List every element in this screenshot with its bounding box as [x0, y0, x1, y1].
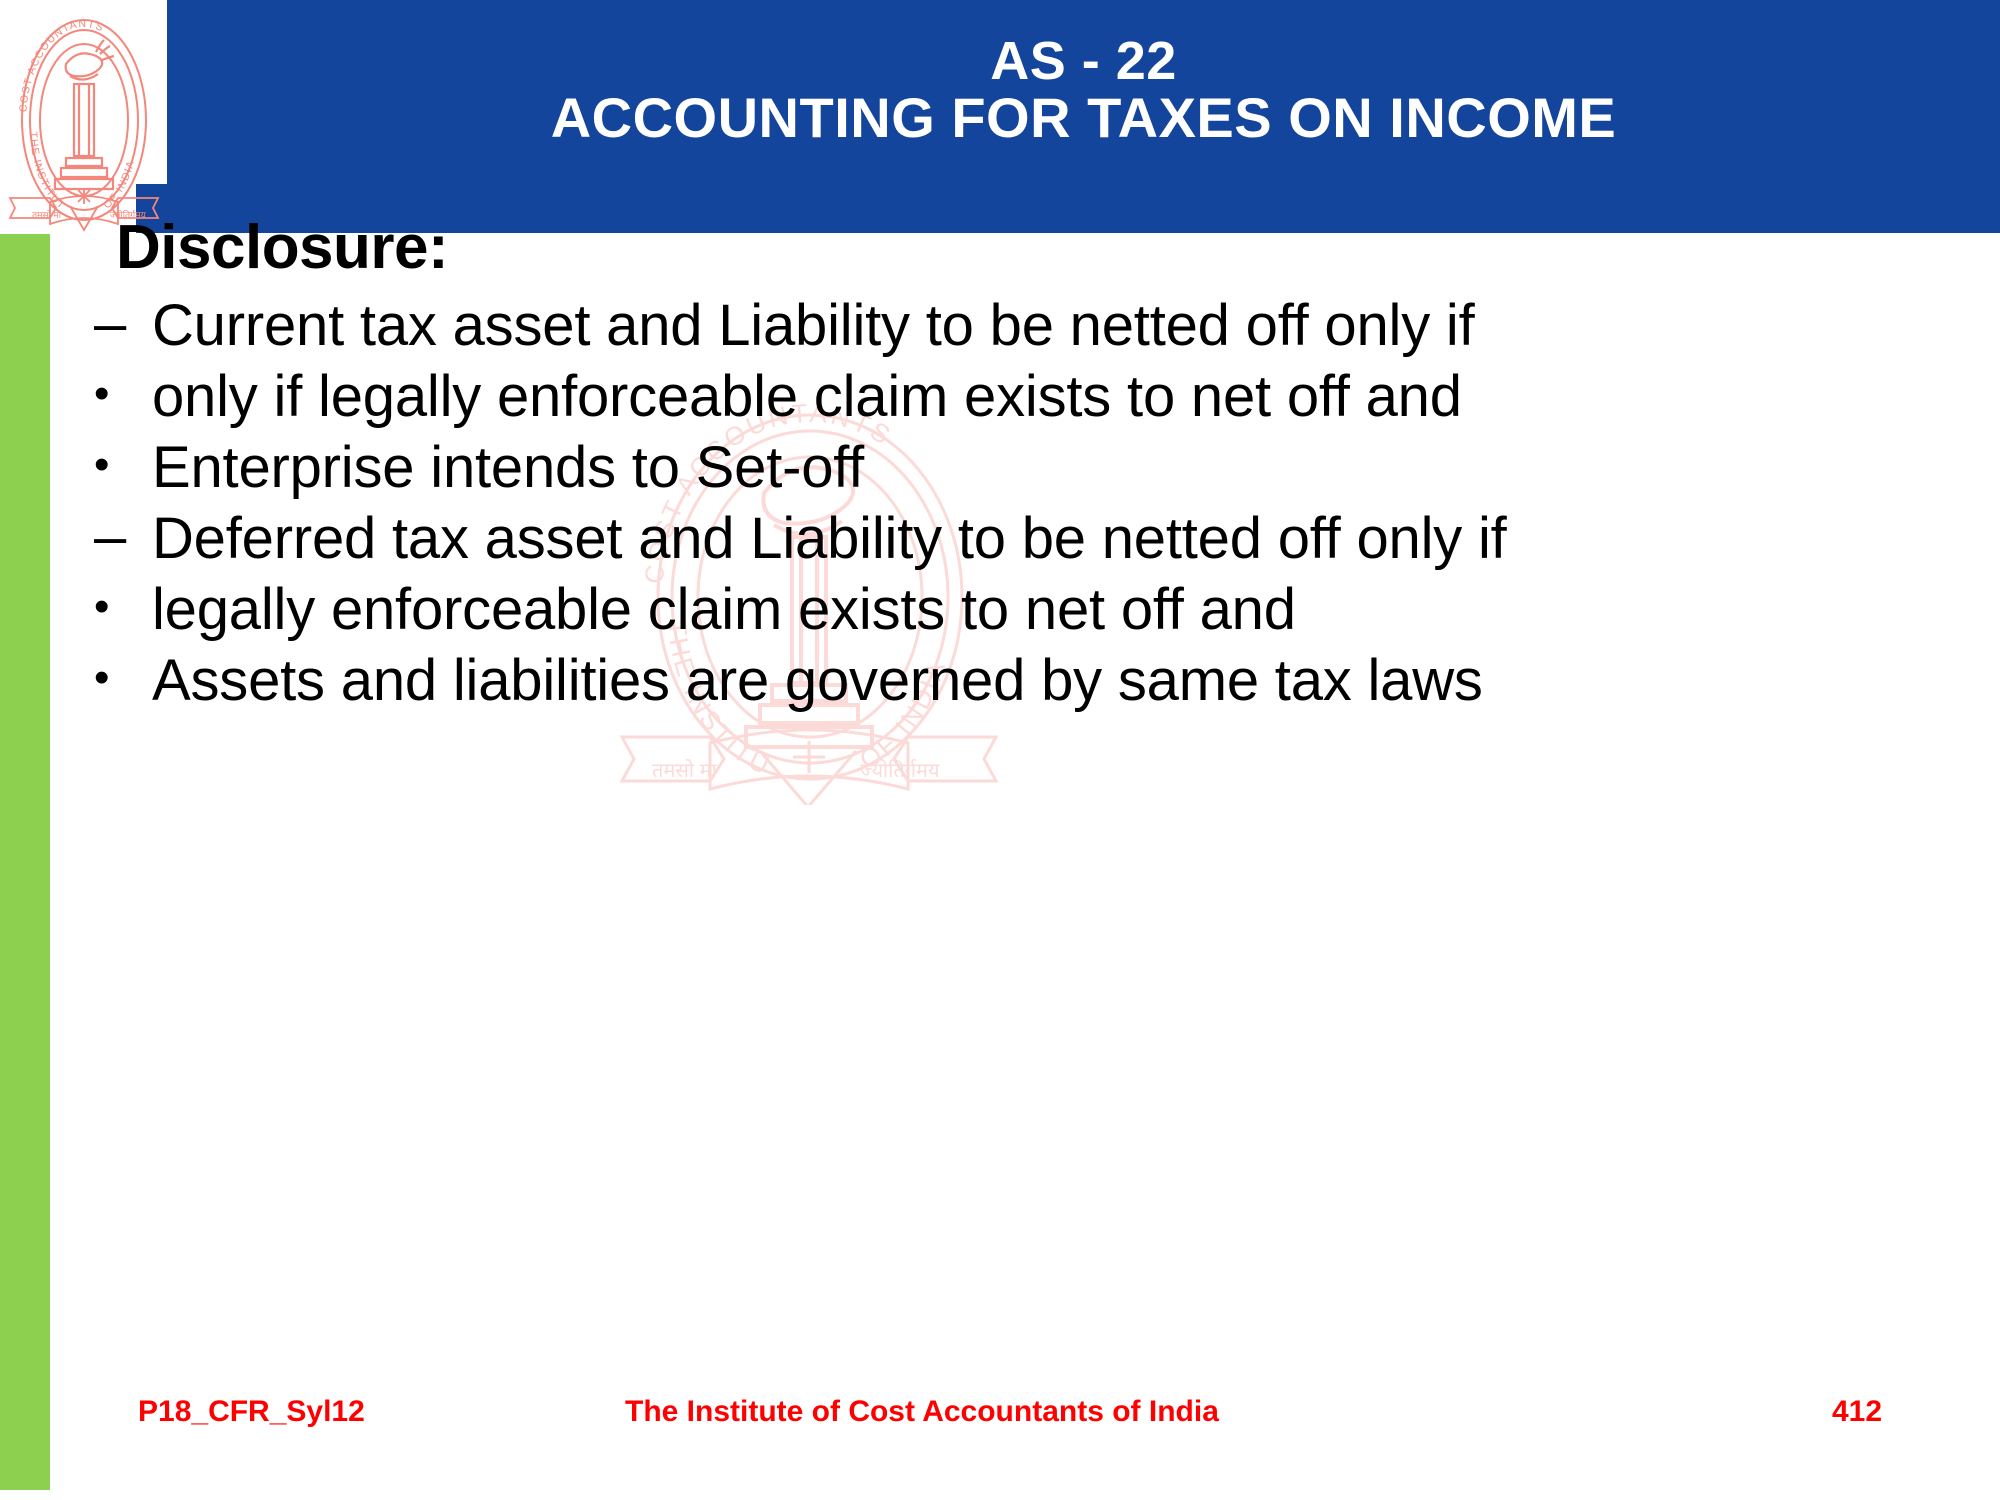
footer-institute-name: The Institute of Cost Accountants of Ind… — [625, 1395, 1219, 1429]
header-title-line2: ACCOUNTING FOR TAXES ON INCOME — [551, 89, 1617, 146]
header-title-line1: AS - 22 — [990, 34, 1177, 89]
dot-bullet-icon: • — [94, 440, 142, 489]
slide-canvas: AS - 22 ACCOUNTING FOR TAXES ON INCOME C… — [0, 0, 2000, 1500]
list-item-text: legally enforceable claim exists to net … — [152, 578, 1950, 643]
list-item: • Enterprise intends to Set-off — [90, 436, 1950, 501]
list-item-text: Assets and liabilities are governed by s… — [152, 649, 1950, 714]
list-item: – Current tax asset and Liability to be … — [90, 294, 1950, 359]
slide-footer: P18_CFR_Syl12 The Institute of Cost Acco… — [0, 1395, 2000, 1455]
list-item: – Deferred tax asset and Liability to be… — [90, 507, 1950, 572]
dash-bullet-icon: – — [94, 505, 142, 570]
dot-bullet-icon: • — [94, 582, 142, 631]
footer-subject-code: P18_CFR_Syl12 — [138, 1395, 365, 1429]
list-item-text: Deferred tax asset and Liability to be n… — [152, 507, 1950, 572]
header-band: AS - 22 ACCOUNTING FOR TAXES ON INCOME — [167, 0, 2000, 184]
list-item-text: only if legally enforceable claim exists… — [152, 365, 1950, 430]
institute-logo: COST ACCOUNTANTS THE INSTITUTE OF OF IND… — [4, 2, 164, 232]
dot-bullet-icon: • — [94, 653, 142, 702]
svg-text:ज्योतिर्गमय: ज्योतिर्गमय — [110, 209, 147, 220]
slide-body: Disclosure: – Current tax asset and Liab… — [0, 200, 2000, 1350]
bullet-list: – Current tax asset and Liability to be … — [90, 294, 1950, 720]
footer-page-number: 412 — [1832, 1395, 1882, 1429]
svg-text:तमसो मा: तमसो मा — [32, 209, 62, 220]
list-item: • only if legally enforceable claim exis… — [90, 365, 1950, 430]
list-item-text: Current tax asset and Liability to be ne… — [152, 294, 1950, 359]
dot-bullet-icon: • — [94, 369, 142, 418]
dash-bullet-icon: – — [94, 292, 142, 357]
list-item: • Assets and liabilities are governed by… — [90, 649, 1950, 714]
list-item-text: Enterprise intends to Set-off — [152, 436, 1950, 501]
page-title: Disclosure: — [116, 212, 448, 283]
list-item: • legally enforceable claim exists to ne… — [90, 578, 1950, 643]
